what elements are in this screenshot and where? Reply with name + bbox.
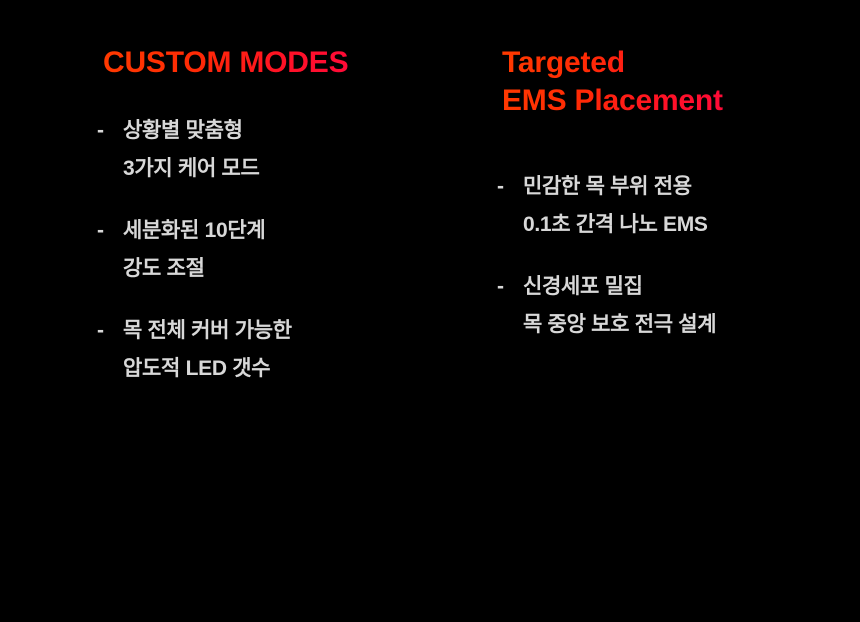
list-item-line: 0.1초 간격 나노 EMS	[523, 206, 716, 244]
heading-custom-modes: CUSTOM MODES	[103, 44, 348, 82]
list-item-lines: 상황별 맞춤형 3가지 케어 모드	[97, 112, 292, 188]
list-item-lines: 세분화된 10단계 강도 조절	[97, 212, 292, 288]
heading-targeted-ems-placement: Targeted EMS Placement	[502, 44, 723, 120]
list-item-line: 강도 조절	[123, 250, 292, 288]
list-item: - 민감한 목 부위 전용 0.1초 간격 나노 EMS	[497, 168, 716, 244]
list-item: - 상황별 맞춤형 3가지 케어 모드	[97, 112, 292, 188]
list-item-lines: 민감한 목 부위 전용 0.1초 간격 나노 EMS	[497, 168, 716, 244]
bullet-dash-icon: -	[97, 212, 111, 250]
bullet-dash-icon: -	[497, 168, 511, 206]
list-item-line: 3가지 케어 모드	[123, 150, 292, 188]
list-item-line: 압도적 LED 갯수	[123, 350, 292, 388]
bullet-list-custom-modes: - 상황별 맞춤형 3가지 케어 모드 - 세분화된 10단계 강도 조절 - …	[97, 112, 292, 388]
bullet-dash-icon: -	[497, 268, 511, 306]
slide-root: CUSTOM MODES - 상황별 맞춤형 3가지 케어 모드 - 세분화된 …	[0, 0, 860, 622]
list-item-line: 목 전체 커버 가능한	[123, 312, 292, 350]
list-item-line: 세분화된 10단계	[123, 212, 292, 250]
list-item-line: 신경세포 밀집	[523, 268, 716, 306]
bullet-dash-icon: -	[97, 312, 111, 350]
bullet-list-targeted-ems-placement: - 민감한 목 부위 전용 0.1초 간격 나노 EMS - 신경세포 밀집 목…	[497, 168, 716, 344]
list-item: - 신경세포 밀집 목 중앙 보호 전극 설계	[497, 268, 716, 344]
list-item: - 목 전체 커버 가능한 압도적 LED 갯수	[97, 312, 292, 388]
list-item-line: 상황별 맞춤형	[123, 112, 292, 150]
list-item: - 세분화된 10단계 강도 조절	[97, 212, 292, 288]
list-item-line: 목 중앙 보호 전극 설계	[523, 306, 716, 344]
list-item-lines: 목 전체 커버 가능한 압도적 LED 갯수	[97, 312, 292, 388]
list-item-lines: 신경세포 밀집 목 중앙 보호 전극 설계	[497, 268, 716, 344]
bullet-dash-icon: -	[97, 112, 111, 150]
list-item-line: 민감한 목 부위 전용	[523, 168, 716, 206]
